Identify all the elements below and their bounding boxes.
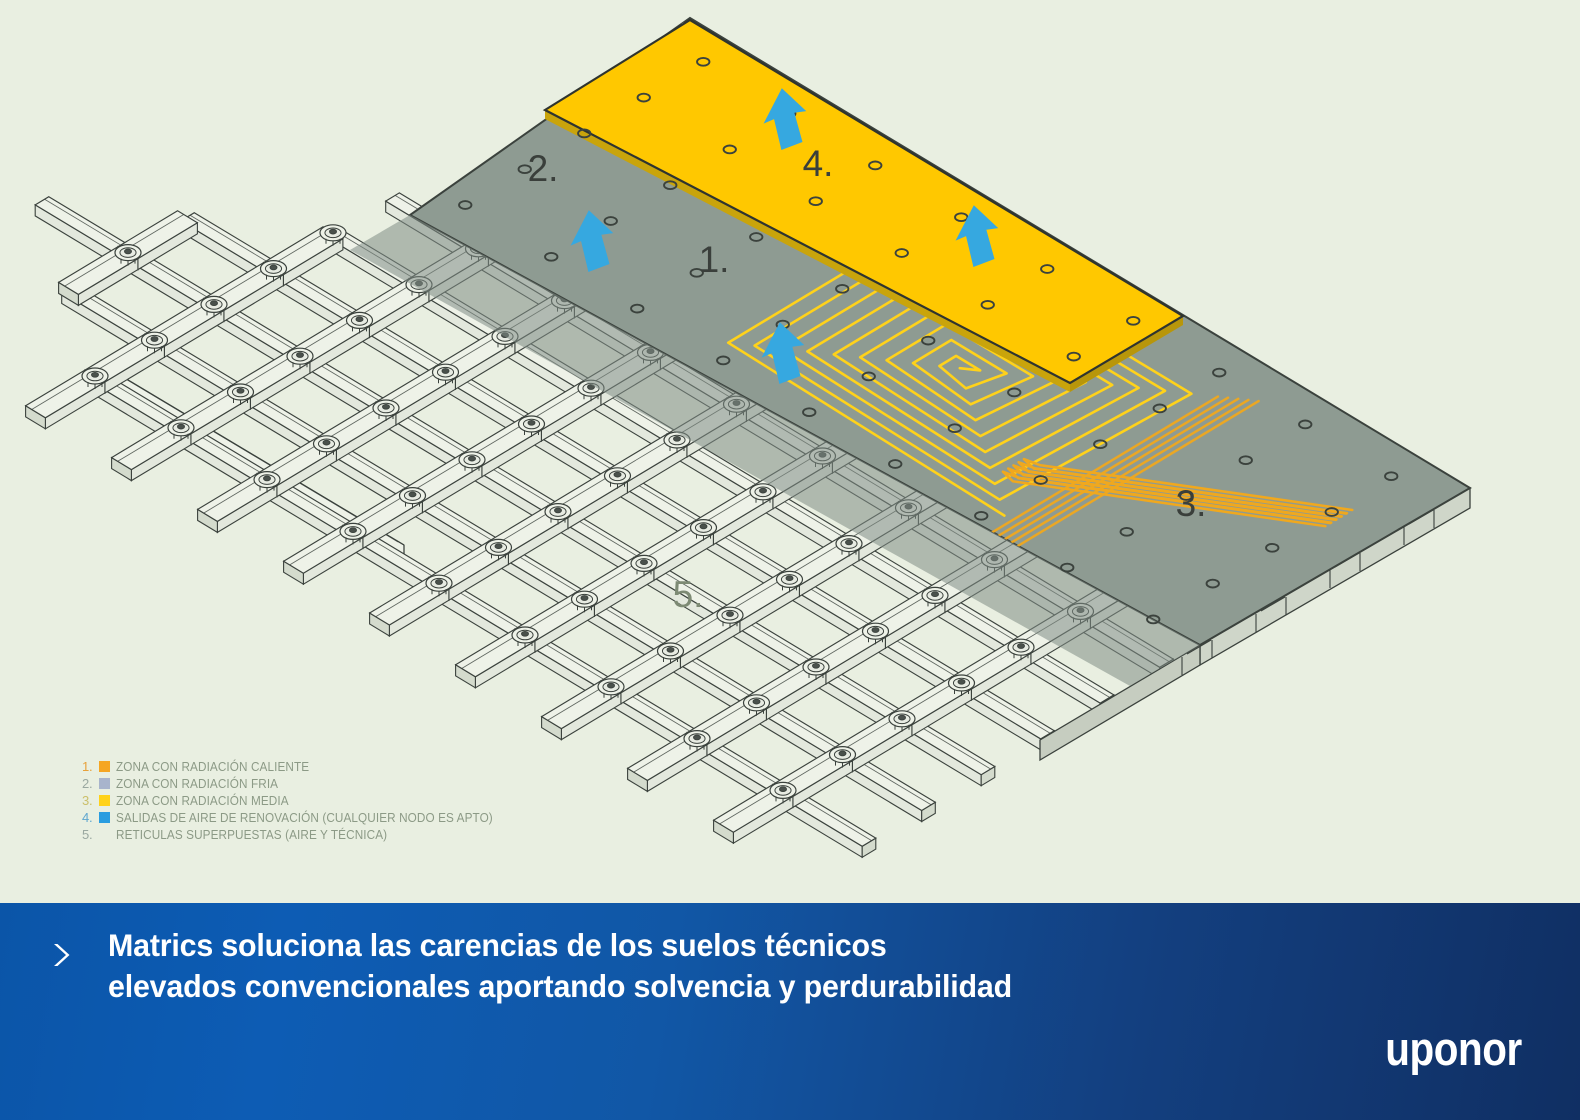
legend-label-1: ZONA CON RADIACIÓN CALIENTE: [116, 760, 309, 774]
legend-number-2: 2.: [82, 776, 99, 791]
callout-1: 1.: [699, 239, 730, 280]
legend-item-5: 5. RETICULAS SUPERPUESTAS (AIRE Y TÉCNIC…: [82, 826, 552, 843]
banner-headline-line-1: Matrics soluciona las carencias de los s…: [108, 927, 887, 963]
legend-number-3: 3.: [82, 793, 99, 808]
banner-headline-line-2: elevados convencionales aportando solven…: [108, 966, 1401, 1007]
legend-swatch-4: [99, 812, 110, 823]
legend-item-4: 4. SALIDAS DE AIRE DE RENOVACIÓN (CUALQU…: [82, 809, 552, 826]
legend-swatch-5: [99, 829, 110, 840]
legend-item-3: 3. ZONA CON RADIACIÓN MEDIA: [82, 792, 552, 809]
chevron-right-icon: [44, 938, 78, 972]
legend-item-1: 1. ZONA CON RADIACIÓN CALIENTE: [82, 758, 552, 775]
legend-label-4: SALIDAS DE AIRE DE RENOVACIÓN (CUALQUIER…: [116, 811, 493, 825]
uponor-logo: uponor: [1385, 1025, 1522, 1072]
legend-number-5: 5.: [82, 827, 99, 842]
banner-headline: Matrics soluciona las carencias de los s…: [108, 925, 1401, 1007]
legend-label-3: ZONA CON RADIACIÓN MEDIA: [116, 794, 289, 808]
callout-2: 2.: [528, 148, 559, 189]
legend-number-4: 4.: [82, 810, 99, 825]
legend-label-5: RETICULAS SUPERPUESTAS (AIRE Y TÉCNICA): [116, 828, 387, 842]
callout-3: 3.: [1176, 483, 1207, 524]
legend-swatch-3: [99, 795, 110, 806]
legend: 1. ZONA CON RADIACIÓN CALIENTE 2. ZONA C…: [82, 758, 552, 843]
legend-swatch-2: [99, 778, 110, 789]
callout-5: 5.: [673, 574, 704, 615]
legend-swatch-1: [99, 761, 110, 772]
legend-item-2: 2. ZONA CON RADIACIÓN FRIA: [82, 775, 552, 792]
legend-number-1: 1.: [82, 759, 99, 774]
legend-label-2: ZONA CON RADIACIÓN FRIA: [116, 777, 278, 791]
page-root: 1.2.3.4.5. 1. ZONA CON RADIACIÓN CALIENT…: [0, 0, 1580, 1120]
callout-4: 4.: [803, 143, 834, 184]
